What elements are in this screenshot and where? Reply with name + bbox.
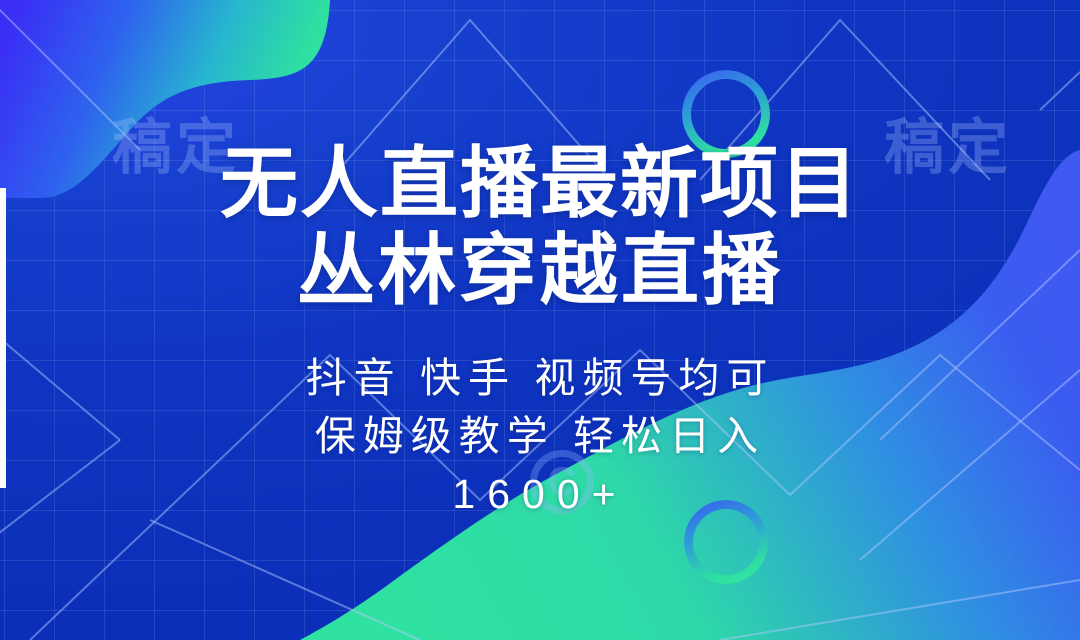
- poster-text-block: 无人直播最新项目 丛林穿越直播 抖音 快手 视频号均可 保姆级教学 轻松日入 1…: [0, 140, 1080, 523]
- headline-line-2: 丛林穿越直播: [0, 227, 1080, 314]
- headline-line-1: 无人直播最新项目: [0, 140, 1080, 227]
- subheadline-line-1: 抖音 快手 视频号均可: [0, 349, 1080, 407]
- subheadline-block: 抖音 快手 视频号均可 保姆级教学 轻松日入 1600+: [0, 349, 1080, 524]
- poster-canvas: 稿定 稿定 C 无人直播最新项目 丛林穿越直播 抖音 快手 视频号均可 保姆级教…: [0, 0, 1080, 640]
- subheadline-line-2: 保姆级教学 轻松日入: [0, 407, 1080, 465]
- subheadline-amount: 1600+: [0, 465, 1080, 523]
